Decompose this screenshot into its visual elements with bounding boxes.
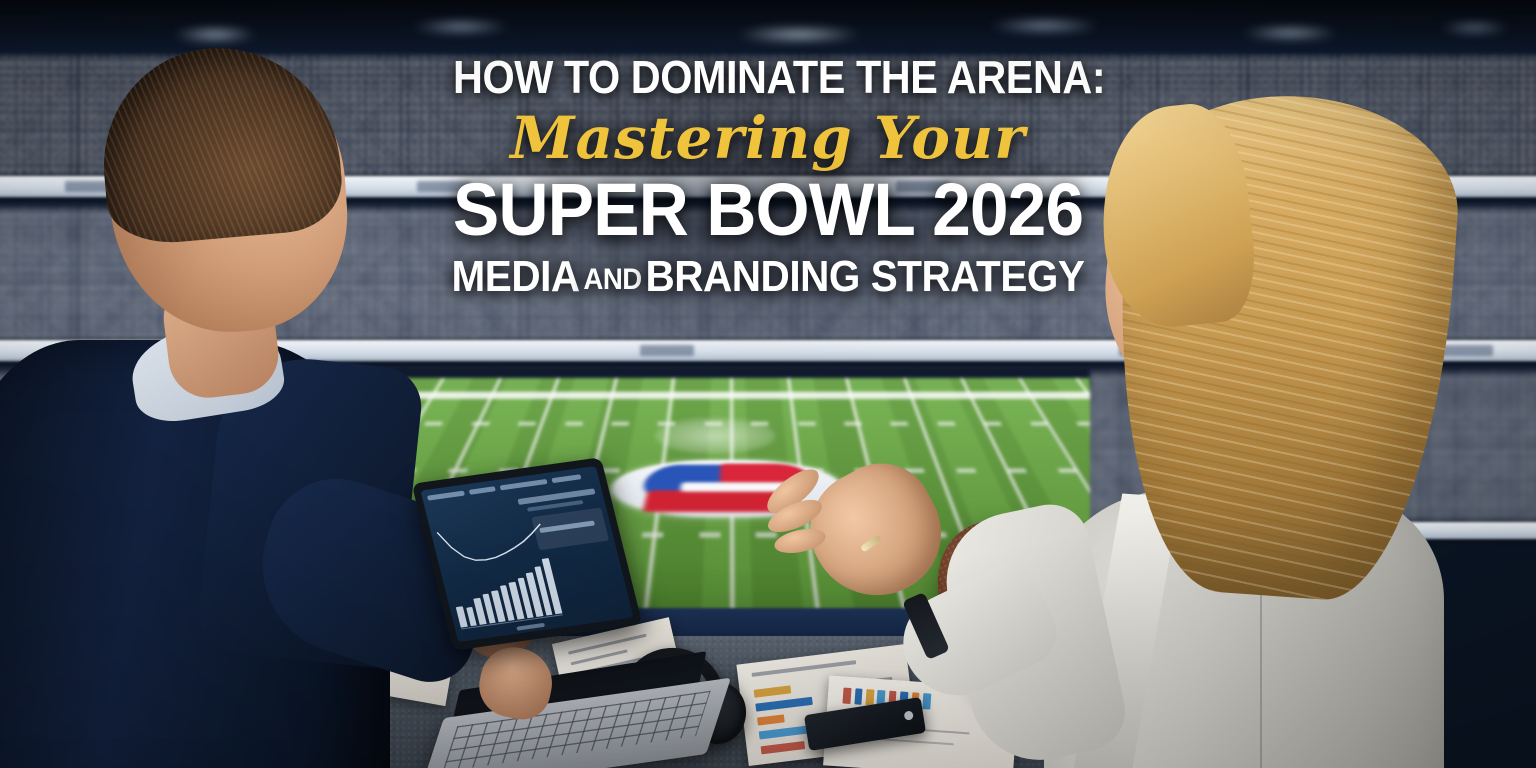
tablet-analytics-dashboard[interactable]	[421, 466, 634, 642]
tablet-home-indicator	[516, 623, 545, 631]
title-sub-conjunction: AND	[583, 263, 641, 296]
title-script: Mastering Your	[418, 104, 1118, 172]
banner-image: HOW TO DOMINATE THE ARENA: Mastering You…	[0, 0, 1536, 768]
title-kicker: HOW TO DOMINATE THE ARENA:	[453, 54, 1083, 100]
tablet-chart-title	[517, 488, 596, 505]
midfield-circle	[655, 418, 775, 454]
title-main: SUPER BOWL 2026	[439, 174, 1097, 247]
title-block: HOW TO DOMINATE THE ARENA: Mastering You…	[418, 54, 1118, 299]
title-sub-before: MEDIA	[452, 252, 580, 301]
man-in-navy-suit	[0, 40, 430, 768]
title-subline: MEDIAANDBRANDING STRATEGY	[446, 255, 1090, 299]
title-sub-after: BRANDING STRATEGY	[645, 252, 1084, 301]
tablet-device[interactable]	[412, 457, 643, 650]
man-hair	[94, 38, 346, 248]
